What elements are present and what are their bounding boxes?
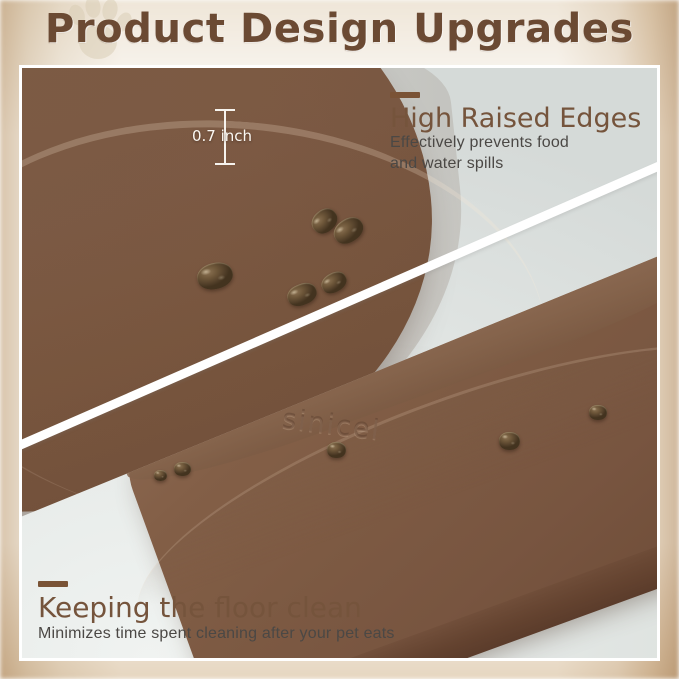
kibble-piece [589, 405, 607, 420]
infographic-page: Product Design Upgrades [0, 0, 679, 679]
callout-headline: High Raised Edges [390, 104, 641, 133]
callout-subline-1: Minimizes time spent cleaning after your… [38, 624, 395, 644]
callout-subline-1: Effectively prevents food [390, 133, 641, 153]
dimension-cap-bottom [215, 163, 235, 165]
dimension-cap-top [215, 109, 235, 111]
callout-high-raised-edges: High Raised Edges Effectively prevents f… [390, 92, 641, 174]
callout-keeping-floor-clean: Keeping the floor clean Minimizes time s… [38, 581, 395, 644]
product-photo-frame: sinicel 0.7 inch High Raised Edges Effec… [19, 65, 660, 661]
callout-subline-2: and water spills [390, 154, 641, 174]
accent-dash [390, 92, 420, 98]
dimension-annotation: 0.7 inch [212, 106, 238, 168]
kibble-piece [174, 462, 191, 476]
title-bar: Product Design Upgrades [0, 0, 679, 66]
callout-headline: Keeping the floor clean [38, 593, 395, 623]
kibble-piece [499, 432, 520, 450]
kibble-piece [154, 470, 167, 481]
kibble-piece [327, 442, 346, 458]
accent-dash [38, 581, 68, 587]
dimension-label: 0.7 inch [192, 127, 252, 145]
page-title: Product Design Upgrades [0, 6, 679, 52]
